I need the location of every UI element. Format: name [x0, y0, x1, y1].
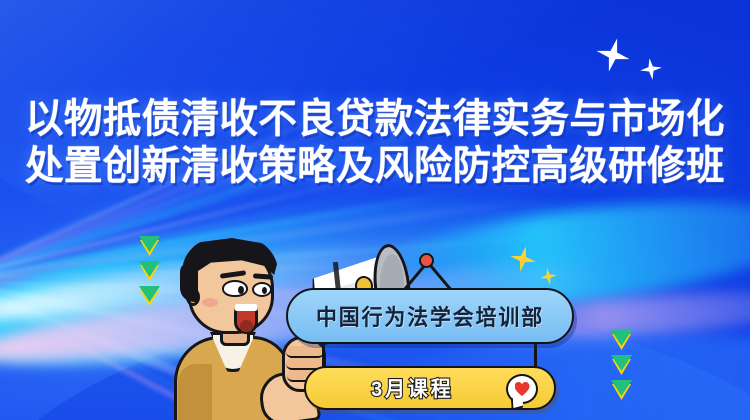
hang-connector-right [534, 342, 537, 368]
chevron-down-icon [611, 355, 632, 373]
speech-bubble-icon [506, 374, 538, 404]
title-line-1: 以物抵债清收不良贷款法律实务与市场化 [15, 96, 735, 143]
event-poster: 以物抵债清收不良贷款法律实务与市场化 处置创新清收策略及风险防控高级研修班 [0, 0, 750, 420]
poster-title: 以物抵债清收不良贷款法律实务与市场化 处置创新清收策略及风险防控高级研修班 [0, 96, 750, 190]
character-eye-left [222, 280, 248, 297]
character-pupil-left [238, 286, 244, 294]
character-tongue [240, 320, 253, 332]
character-pupil-right [262, 287, 267, 294]
character-hair-side [180, 262, 198, 302]
month-badge-label: 3月课程 [371, 373, 453, 403]
chevron-down-icon [611, 380, 632, 398]
character-teeth [235, 304, 257, 311]
month-badge[interactable]: 3月课程 [304, 366, 556, 410]
character-cheek [202, 298, 218, 307]
hang-connector-left [322, 342, 325, 368]
hanging-sign-group: 中国行为法学会培训部 3月课程 [286, 258, 586, 408]
organization-badge-label: 中国行为法学会培训部 [316, 300, 544, 332]
heart-icon [515, 382, 530, 396]
character-shirt-shade [178, 364, 212, 420]
hang-pivot-dot [419, 253, 434, 268]
chevron-group-right [611, 330, 632, 405]
organization-badge[interactable]: 中国行为法学会培训部 [286, 288, 574, 344]
title-line-2: 处置创新清收策略及风险防控高级研修班 [15, 143, 735, 190]
chevron-down-icon [611, 330, 632, 348]
